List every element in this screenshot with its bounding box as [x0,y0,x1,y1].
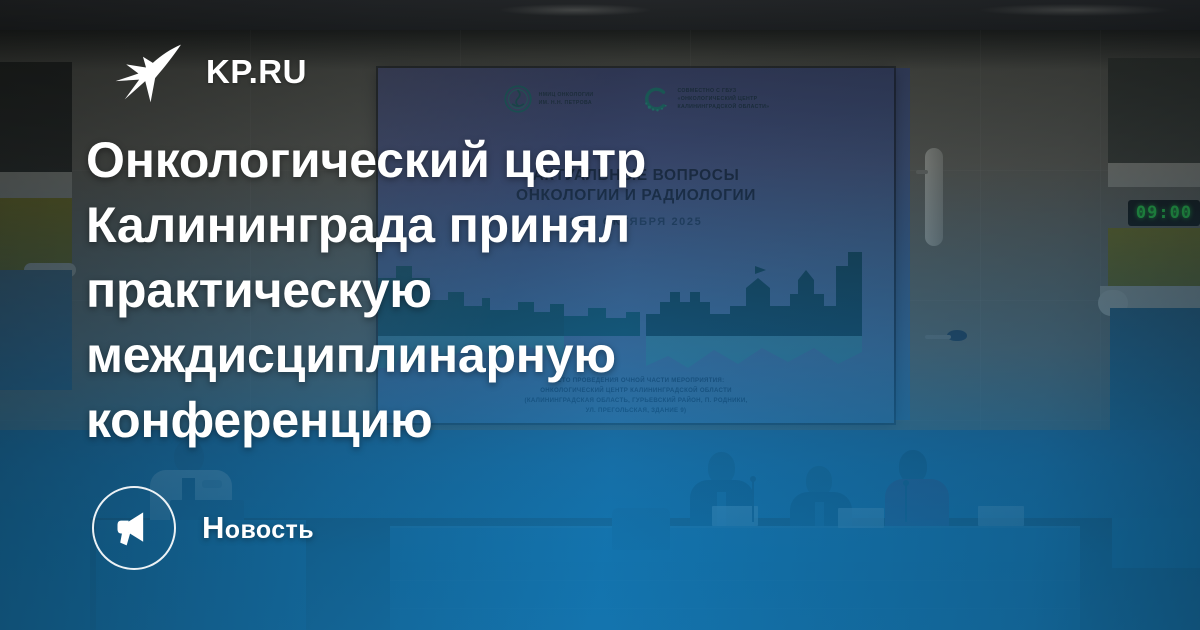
category-tag-label-rest: овость [225,516,314,544]
brand-lockup[interactable]: KP.RU [108,34,307,110]
headline: Онкологический центр Калининграда принял… [86,128,846,453]
headline-line-4: междисциплинарную [86,323,846,388]
headline-line-5: конференцию [86,388,846,453]
card-foreground: KP.RU Онкологический центр Калининграда … [0,0,1200,630]
headline-line-2: Калининграда принял [86,193,846,258]
headline-line-1: Онкологический центр [86,128,846,193]
swallow-bird-icon [108,34,184,110]
category-tag-label: Новость [202,510,314,546]
news-share-card: 09:00 НМИЦ ОНКОЛОГИИ [0,0,1200,630]
headline-line-3: практическую [86,258,846,323]
megaphone-icon-circle [92,486,176,570]
category-tag[interactable]: Новость [92,486,314,570]
category-tag-label-cap: Н [202,510,225,545]
megaphone-icon [112,506,156,550]
brand-name: KP.RU [206,53,307,91]
